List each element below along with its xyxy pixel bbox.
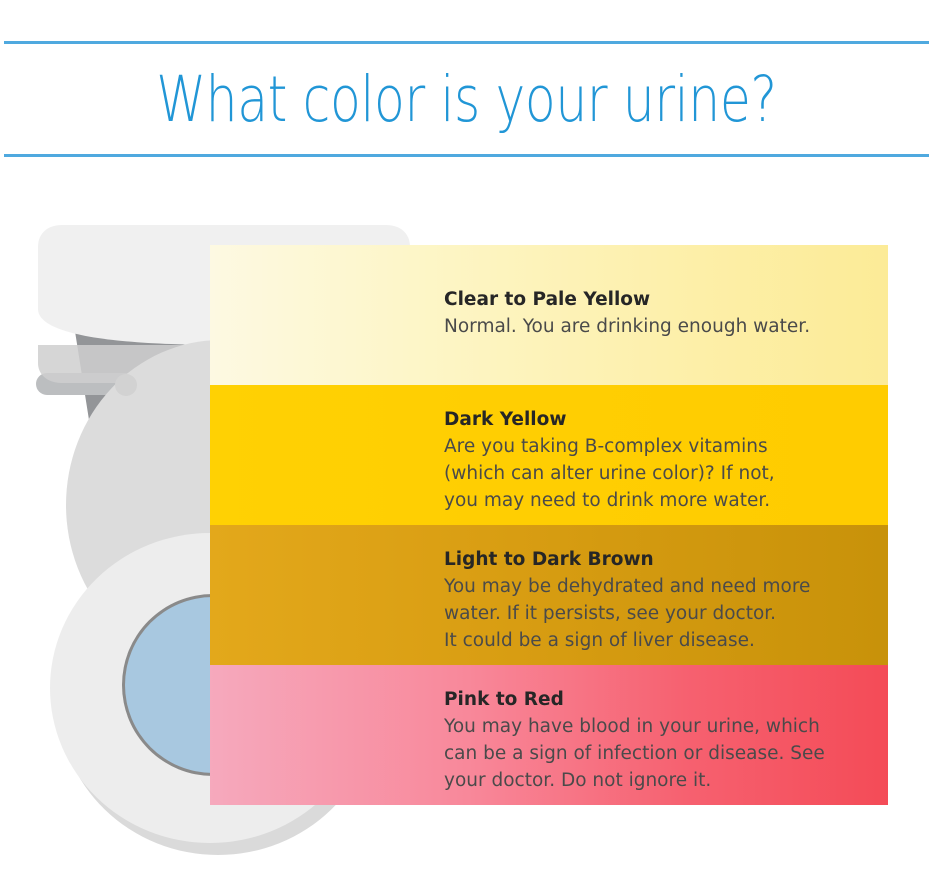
legend-band-text: Light to Dark Brown You may be dehydrate… [444,547,864,654]
legend-band-text: Dark Yellow Are you taking B-complex vit… [444,407,864,514]
urine-color-legend: Clear to Pale Yellow Normal. You are dri… [210,245,888,805]
legend-band-title: Pink to Red [444,687,864,713]
legend-band-body: You may have blood in your urine, which … [444,713,864,794]
legend-band-pink-to-red: Pink to Red You may have blood in your u… [210,665,888,805]
page-title: What color is your urine? [93,55,839,145]
header-rule-bottom [4,154,929,157]
legend-band-text: Pink to Red You may have blood in your u… [444,687,864,794]
legend-band-text: Clear to Pale Yellow Normal. You are dri… [444,287,864,340]
header-rule-top [4,41,929,44]
legend-band-clear-to-pale-yellow: Clear to Pale Yellow Normal. You are dri… [210,245,888,385]
legend-band-body: You may be dehydrated and need more wate… [444,573,864,654]
legend-band-light-to-dark-brown: Light to Dark Brown You may be dehydrate… [210,525,888,665]
legend-band-title: Light to Dark Brown [444,547,864,573]
legend-band-dark-yellow: Dark Yellow Are you taking B-complex vit… [210,385,888,525]
page-header: What color is your urine? [0,0,933,160]
lid-bumper-left-icon [115,374,137,396]
legend-band-title: Clear to Pale Yellow [444,287,864,313]
legend-band-body: Normal. You are drinking enough water. [444,313,864,340]
legend-band-body: Are you taking B-complex vitamins (which… [444,433,864,514]
legend-band-title: Dark Yellow [444,407,864,433]
